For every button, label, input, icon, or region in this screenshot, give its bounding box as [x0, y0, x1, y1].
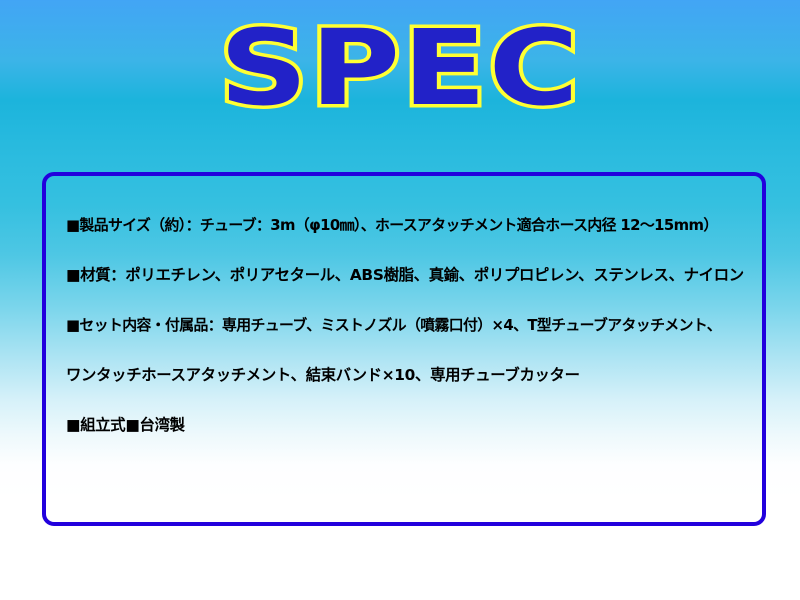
page-title: SPEC [219, 16, 581, 120]
spec-slide: SPEC ■製品サイズ（約）：チューブ：3m（φ10㎜）、ホースアタッチメント適… [0, 0, 800, 600]
spec-line-set-contents-cont: ワンタッチホースアタッチメント、結束バンド×10、専用チューブカッター [66, 350, 749, 400]
spec-line-assembly-origin: ■組立式■台湾製 [66, 400, 749, 450]
spec-line-material: ■材質：ポリエチレン、ポリアセタール、ABS樹脂、真鍮、ポリプロピレン、ステンレ… [66, 250, 749, 300]
spec-list: ■製品サイズ（約）：チューブ：3m（φ10㎜）、ホースアタッチメント適合ホース内… [66, 200, 756, 450]
title-container: SPEC [0, 10, 800, 125]
spec-line-product-size: ■製品サイズ（約）：チューブ：3m（φ10㎜）、ホースアタッチメント適合ホース内… [66, 200, 749, 250]
spec-line-set-contents: ■セット内容・付属品：専用チューブ、ミストノズル（噴霧口付）×4、T型チューブア… [66, 300, 749, 350]
